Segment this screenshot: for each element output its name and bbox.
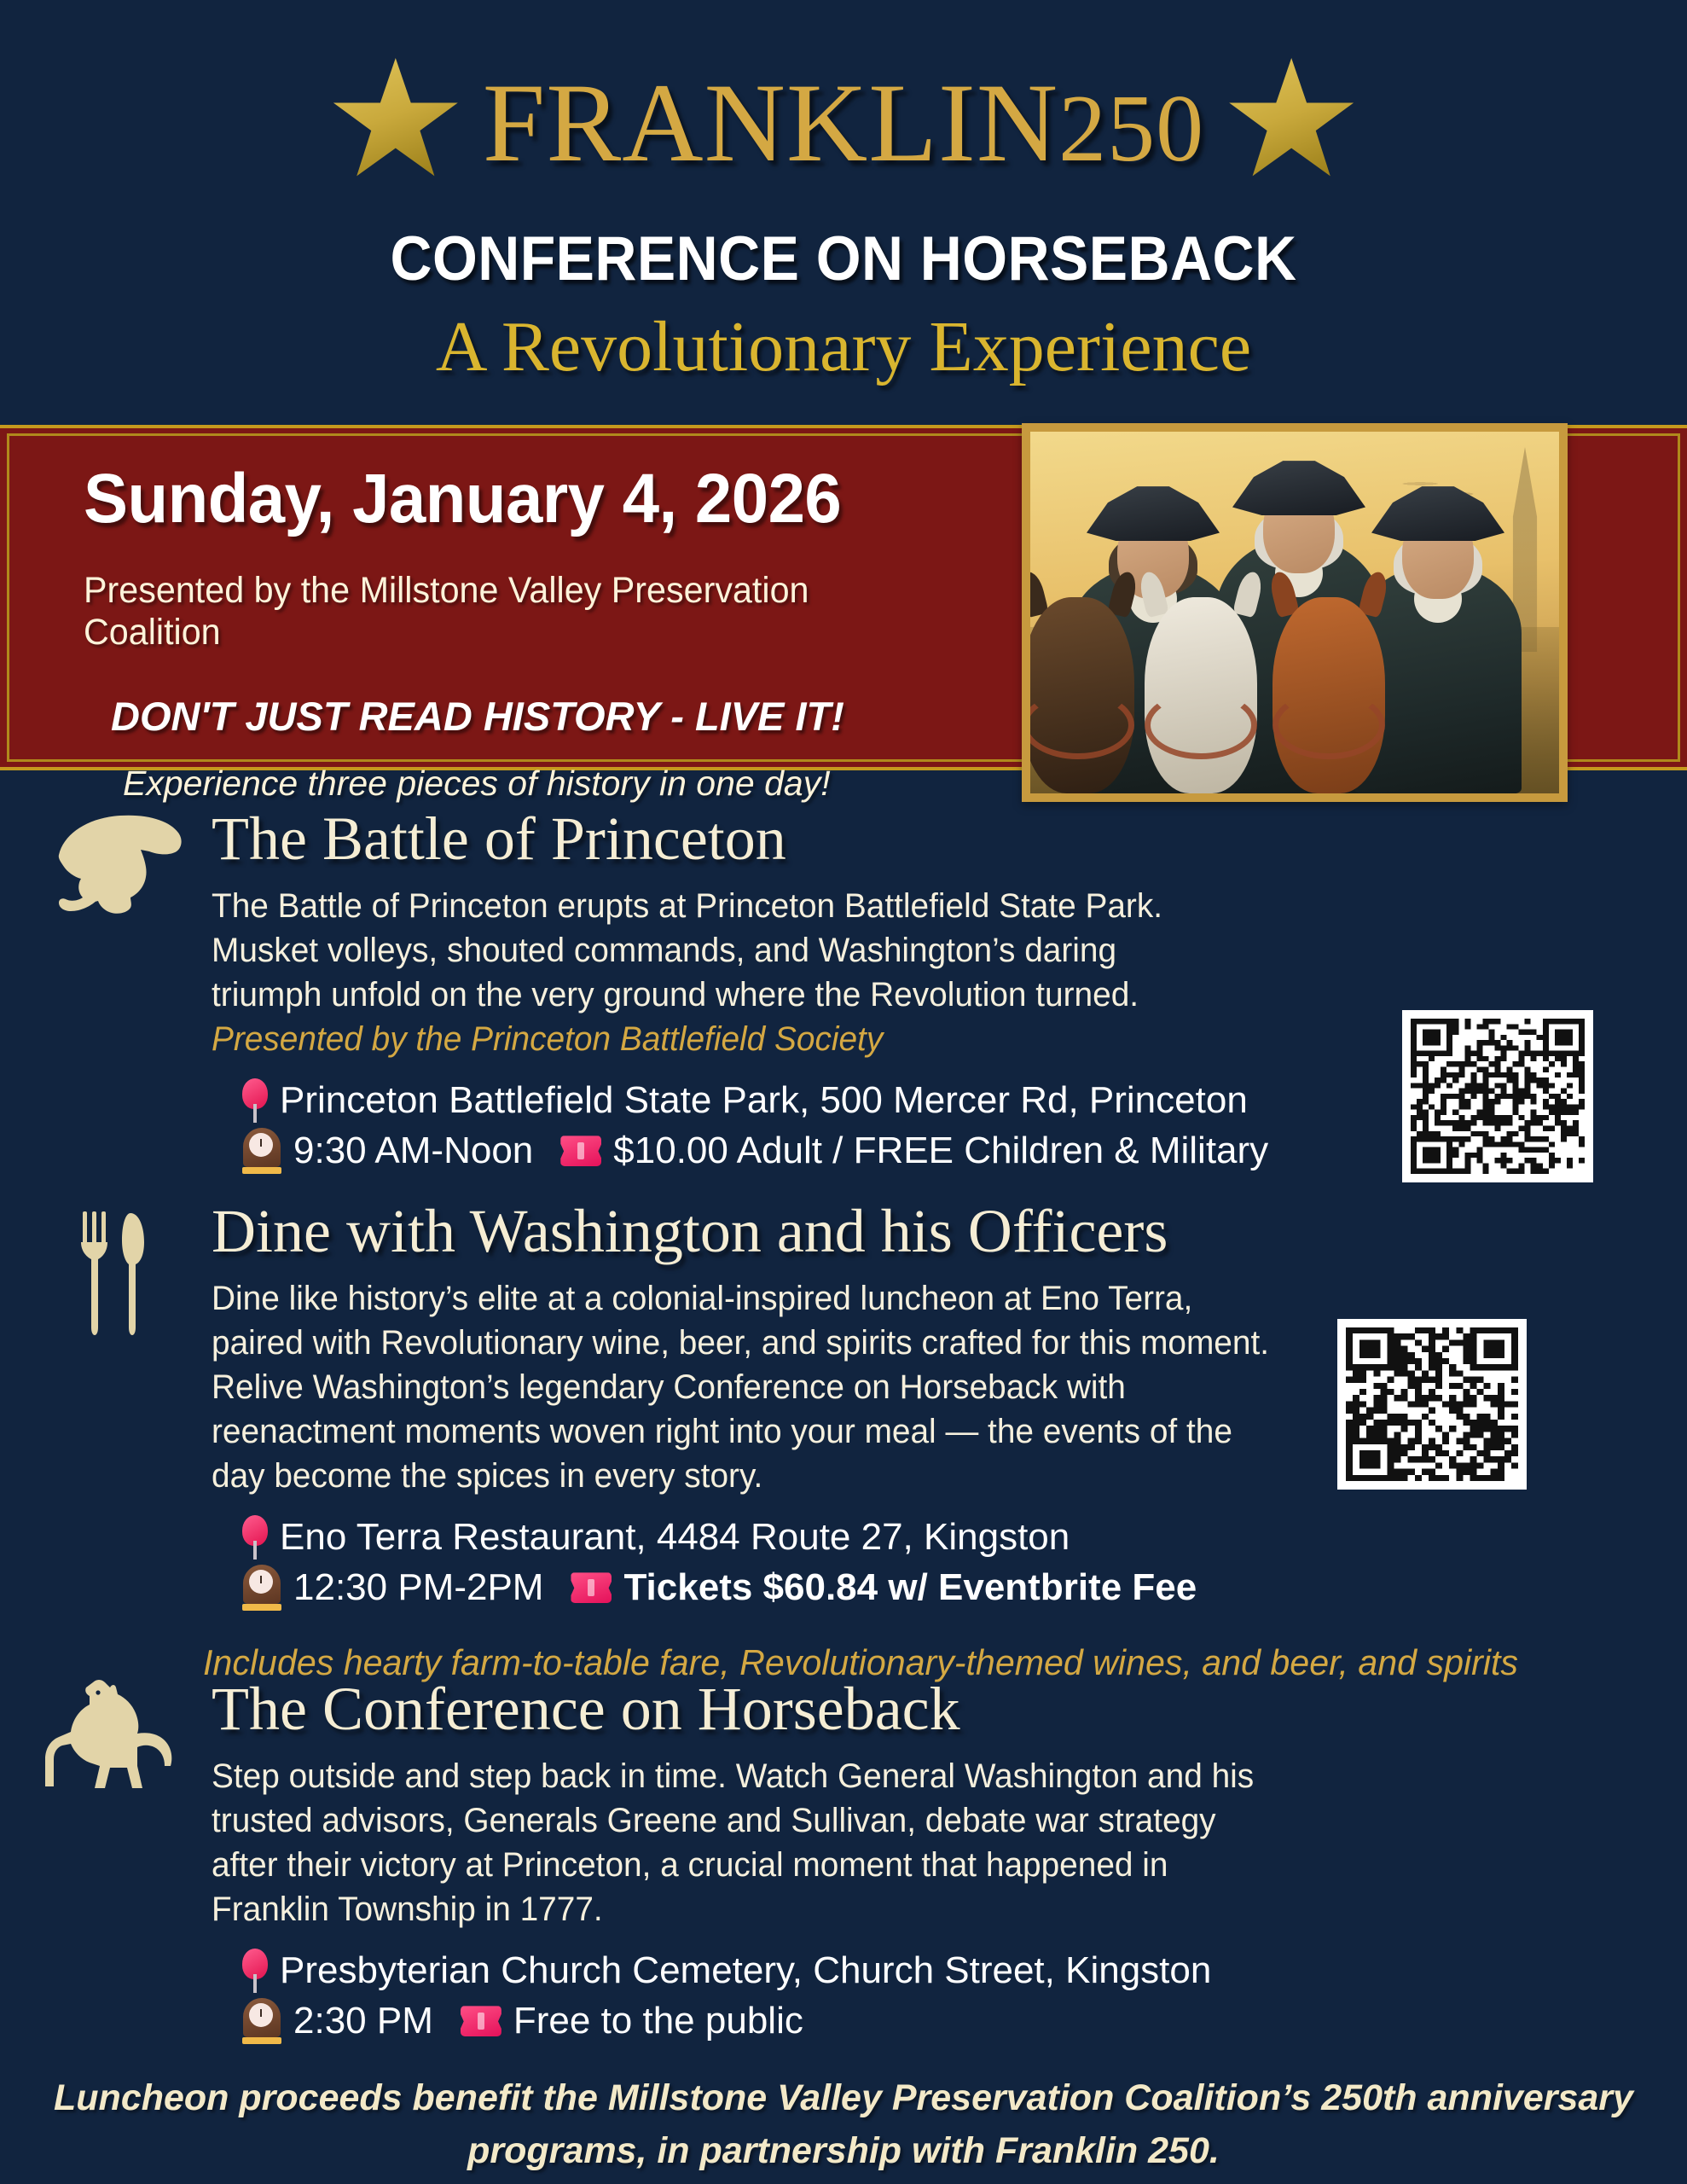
section-title: The Battle of Princeton <box>212 807 1678 872</box>
location-pin-icon <box>242 1515 268 1560</box>
section-battle-of-princeton: The Battle of Princeton The Battle of Pr… <box>0 807 1687 1199</box>
tricorn-hat-silhouette-icon <box>44 810 189 938</box>
horse-right-chestnut <box>1244 589 1414 793</box>
horse-rein <box>1145 691 1257 759</box>
star-icon-right <box>1226 58 1356 188</box>
price-text: $10.00 Adult / FREE Children & Military <box>613 1125 1268 1176</box>
fork-and-knife-icon <box>44 1208 189 1336</box>
brand-title: FRANKLIN250 <box>483 67 1204 179</box>
star-icon-left <box>331 58 461 188</box>
event-date: Sunday, January 4, 2026 <box>84 459 935 539</box>
section-description: Dine like history’s elite at a colonial-… <box>212 1276 1287 1498</box>
section-conference-on-horseback: The Conference on Horseback Step outside… <box>0 1677 1687 1967</box>
qr-code-battle-of-princeton[interactable] <box>1402 1010 1593 1182</box>
ticket-icon <box>571 1571 612 1605</box>
price-text: Tickets $60.84 w/ Eventbrite Fee <box>623 1562 1197 1613</box>
poster-header: FRANKLIN250 CONFERENCE ON HORSEBACK A Re… <box>0 0 1687 415</box>
time-text: 12:30 PM-2PM <box>293 1562 543 1613</box>
location-text: Princeton Battlefield State Park, 500 Me… <box>280 1075 1248 1126</box>
poster-subhead: A Revolutionary Experience <box>0 305 1687 388</box>
poster-headline: CONFERENCE ON HORSEBACK <box>59 224 1628 294</box>
footer-line-1: Luncheon proceeds benefit the Millstone … <box>0 2071 1687 2124</box>
clock-icon <box>242 1565 281 1611</box>
section-description: Step outside and step back in time. Watc… <box>212 1754 1278 1931</box>
footer-note: Luncheon proceeds benefit the Millstone … <box>0 2071 1687 2178</box>
location-text: Eno Terra Restaurant, 4484 Route 27, Kin… <box>280 1512 1070 1563</box>
section-description-credit: Presented by the Princeton Battlefield S… <box>212 1020 883 1058</box>
section-dine-with-washington: Dine with Washington and his Officers Di… <box>0 1199 1687 1677</box>
section-title: The Conference on Horseback <box>212 1677 1678 1742</box>
section-body: The Conference on Horseback Step outside… <box>212 1677 1678 2047</box>
section-description-main: The Battle of Princeton erupts at Prince… <box>212 887 1162 1014</box>
time-text: 9:30 AM-Noon <box>293 1125 533 1176</box>
sections-list: The Battle of Princeton The Battle of Pr… <box>0 807 1687 1967</box>
presented-by: Presented by the Millstone Valley Preser… <box>84 570 943 653</box>
tricorn-hat <box>1232 457 1365 515</box>
brand-title-row: FRANKLIN250 <box>0 58 1687 188</box>
location-text: Presbyterian Church Cemetery, Church Str… <box>280 1945 1211 1996</box>
ticket-icon <box>560 1134 601 1168</box>
banner-text-block: Sunday, January 4, 2026 Presented by the… <box>84 459 979 804</box>
qr-code-dine-with-washington[interactable] <box>1337 1319 1527 1490</box>
historic-painting <box>1030 432 1559 793</box>
horse-rein <box>1272 691 1385 759</box>
meta-location: Presbyterian Church Cemetery, Church Str… <box>242 1945 1678 1996</box>
historic-painting-frame <box>1022 423 1568 802</box>
brand-number: 250 <box>1058 76 1204 182</box>
meta-location: Eno Terra Restaurant, 4484 Route 27, Kin… <box>242 1512 1678 1563</box>
price-text: Free to the public <box>513 1995 803 2047</box>
event-slogan: DON'T JUST READ HISTORY - LIVE IT! <box>111 693 979 740</box>
section-description-main: Step outside and step back in time. Watc… <box>212 1757 1254 1928</box>
event-tagline: Experience three pieces of history in on… <box>123 764 979 804</box>
location-pin-icon <box>242 1078 268 1123</box>
section-meta: Eno Terra Restaurant, 4484 Route 27, Kin… <box>242 1512 1678 1614</box>
meta-time-price: 2:30 PM Free to the public <box>242 1995 1678 2047</box>
section-title: Dine with Washington and his Officers <box>212 1199 1678 1264</box>
time-text: 2:30 PM <box>293 1995 433 2047</box>
location-pin-icon <box>242 1949 268 1993</box>
section-description: The Battle of Princeton erupts at Prince… <box>212 884 1163 1061</box>
tricorn-hat <box>1087 483 1220 541</box>
meta-time-price: 12:30 PM-2PM Tickets $60.84 w/ Eventbrit… <box>242 1562 1678 1613</box>
ticket-icon <box>461 2004 501 2038</box>
section-description-main: Dine like history’s elite at a colonial-… <box>212 1280 1269 1495</box>
brand-name: FRANKLIN <box>483 60 1058 185</box>
section-meta: Presbyterian Church Cemetery, Church Str… <box>242 1945 1678 2047</box>
horse-silhouette-icon <box>34 1677 179 1805</box>
footer-line-2: programs, in partnership with Franklin 2… <box>0 2124 1687 2177</box>
clock-icon <box>242 1128 281 1174</box>
clock-icon <box>242 1998 281 2044</box>
